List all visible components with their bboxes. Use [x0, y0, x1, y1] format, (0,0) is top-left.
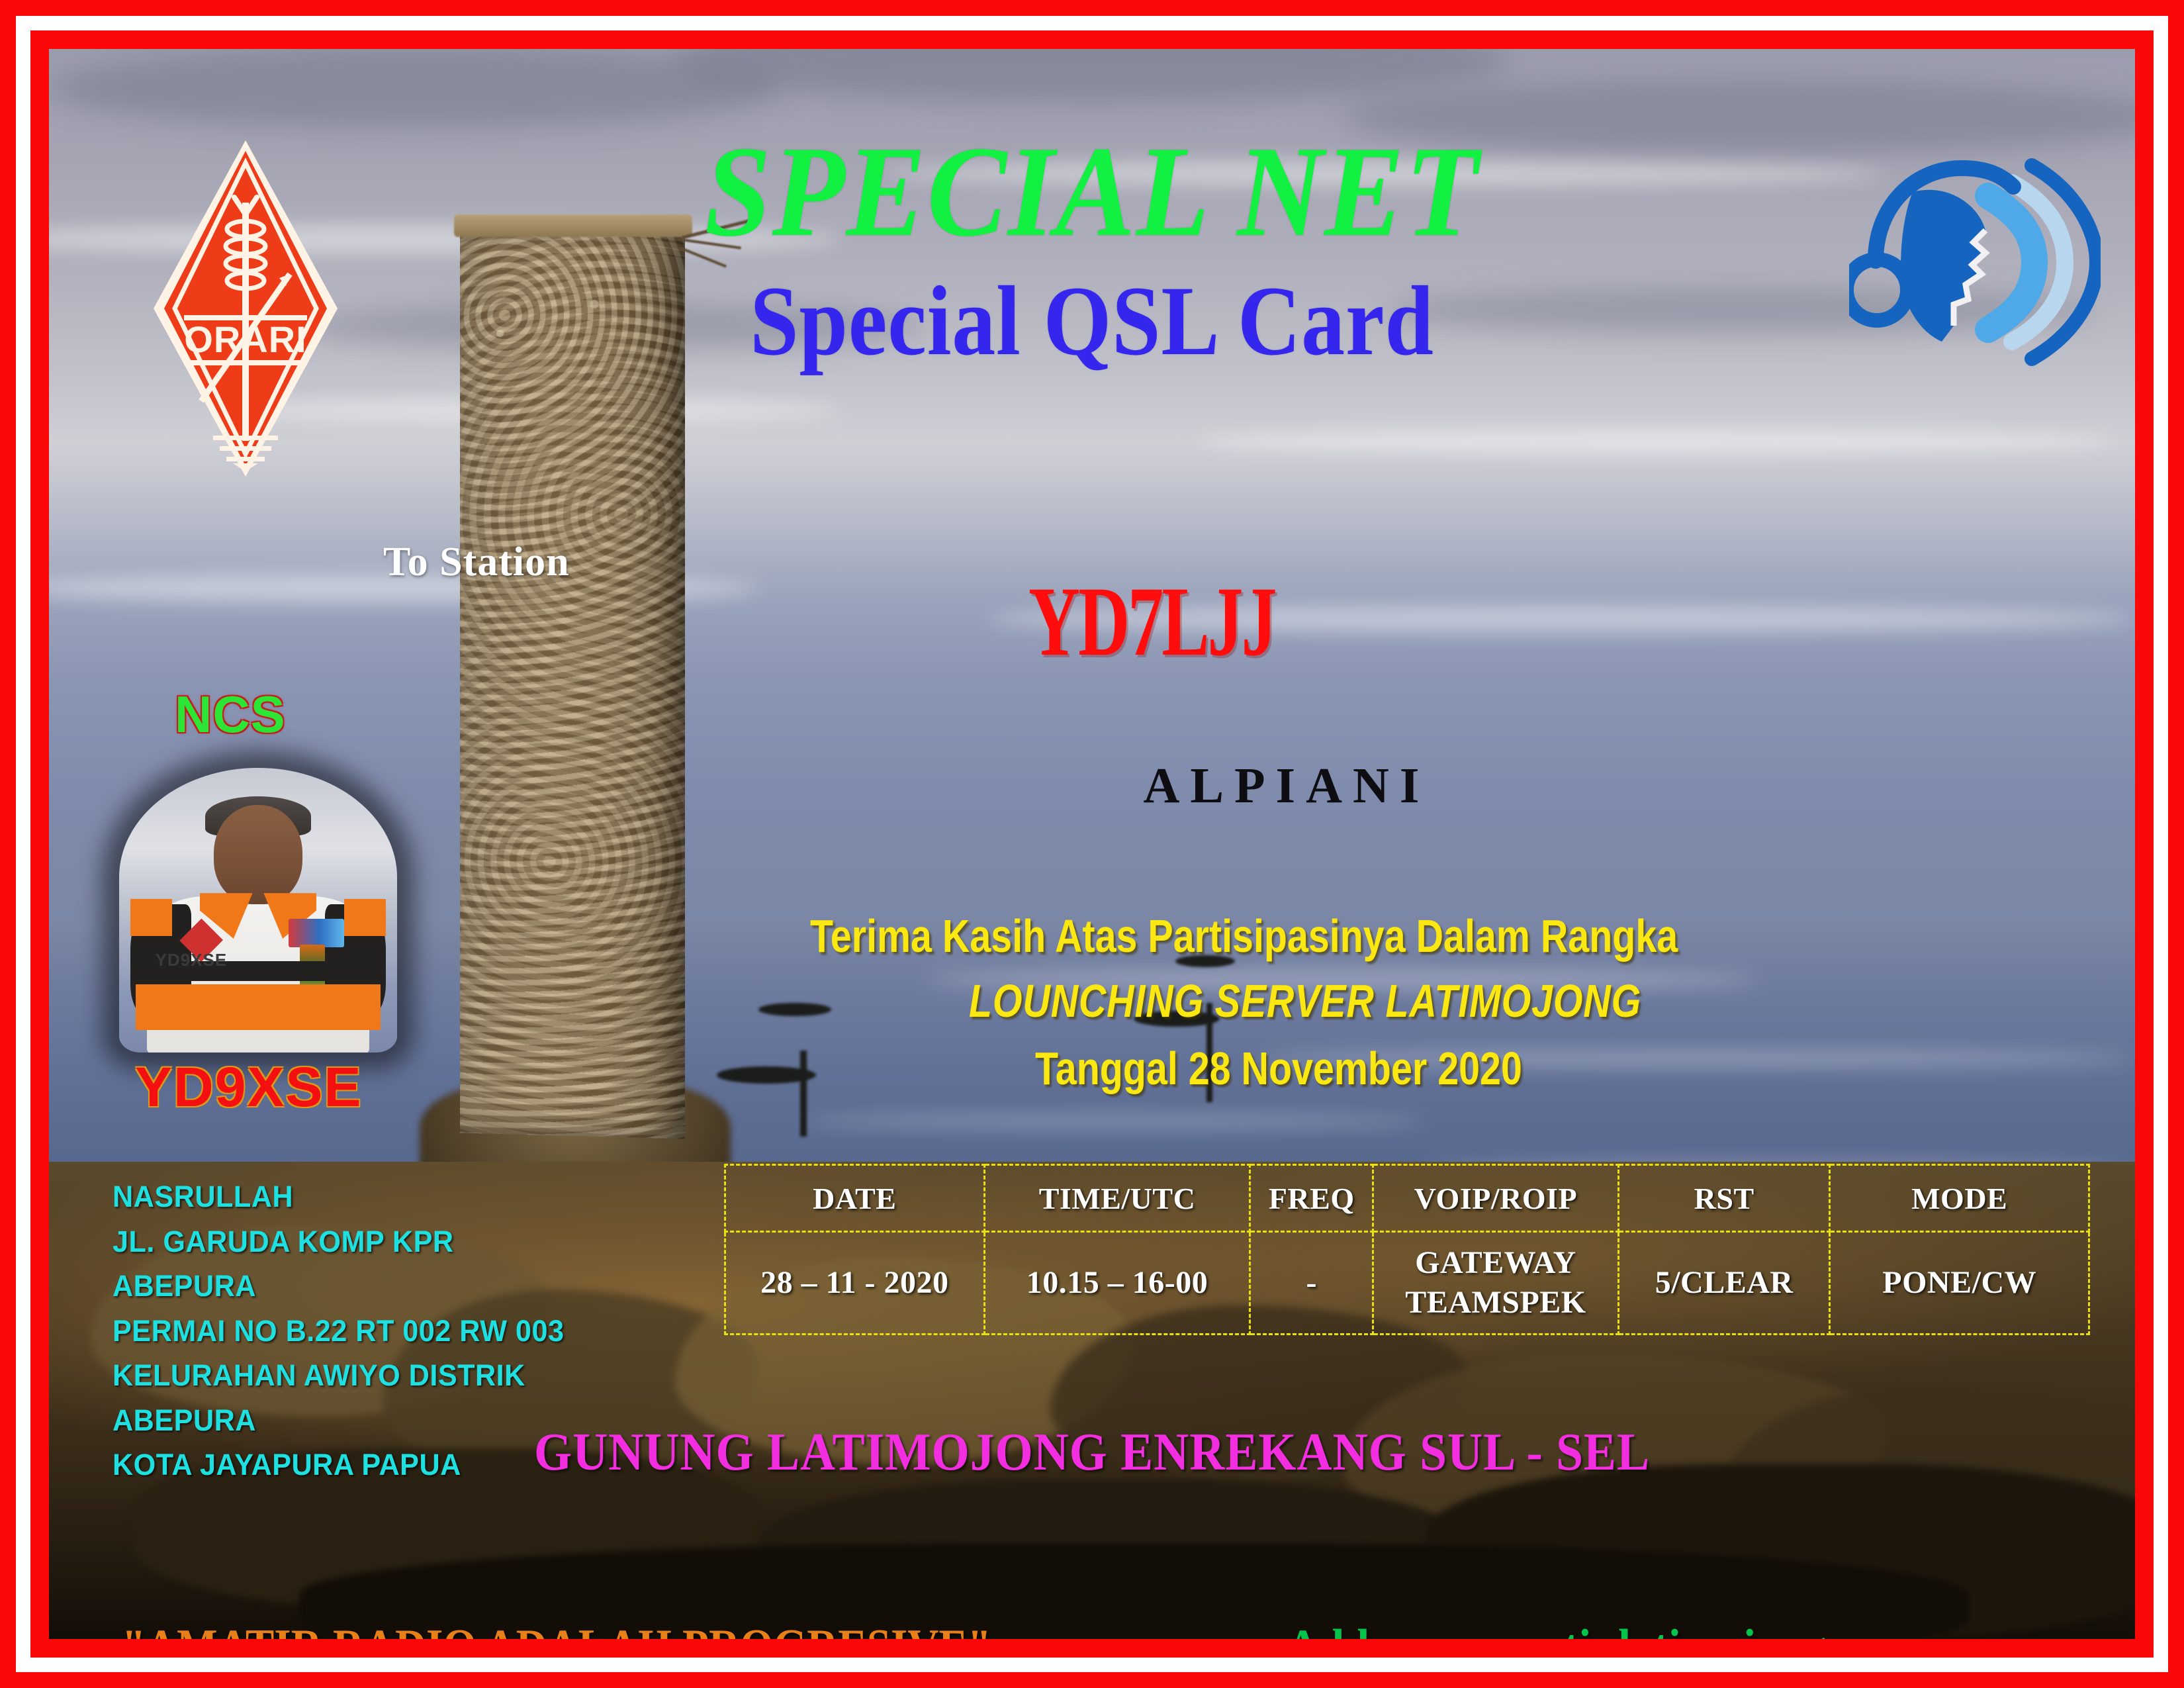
- col-time: TIME/UTC: [984, 1165, 1250, 1232]
- location-label: GUNUNG LATIMOJONG ENREKANG SUL - SEL: [132, 1423, 2052, 1483]
- address-line: ABEPURA: [113, 1264, 564, 1309]
- col-date: DATE: [725, 1165, 985, 1232]
- station-callsign: YD7LJJ: [1028, 572, 1275, 671]
- qsl-card: ORARI: [0, 0, 2184, 1688]
- qso-table: DATE TIME/UTC FREQ VOIP/ROIP RST MODE 28…: [724, 1164, 2090, 1335]
- address-line: NASRULLAH: [113, 1174, 564, 1219]
- page-subtitle: Special QSL Card: [174, 271, 2010, 371]
- operator-name: ALPIANI: [1055, 757, 1518, 815]
- cell-freq: -: [1250, 1232, 1373, 1335]
- col-mode: MODE: [1830, 1165, 2089, 1232]
- col-rst: RST: [1618, 1165, 1829, 1232]
- cell-date: 28 – 11 - 2020: [725, 1232, 985, 1335]
- cell-time: 10.15 – 16-00: [984, 1232, 1250, 1335]
- event-thanks-line: Terima Kasih Atas Partisipasinya Dalam R…: [810, 910, 1678, 962]
- to-station-label: To Station: [383, 539, 570, 586]
- cell-rst: 5/CLEAR: [1618, 1232, 1829, 1335]
- address-line: KELURAHAN AWIYO DISTRIK: [113, 1353, 564, 1398]
- cell-voip-roip: GATEWAY TEAMSPEK: [1373, 1232, 1618, 1335]
- motto-text: "AMATIR RADIO ADALAH PROGRESIVE": [122, 1619, 991, 1639]
- website-address: Address : amatir.latimojong.com: [1287, 1619, 1917, 1639]
- ncs-label: NCS: [175, 684, 286, 745]
- page-title: SPECIAL NET: [132, 127, 2052, 257]
- table-header-row: DATE TIME/UTC FREQ VOIP/ROIP RST MODE: [725, 1165, 2089, 1232]
- table-row: 28 – 11 - 2020 10.15 – 16-00 - GATEWAY T…: [725, 1232, 2089, 1335]
- address-line: JL. GARUDA KOMP KPR: [113, 1219, 564, 1264]
- avatar-shirt-callsign: YD9XSE: [156, 950, 228, 970]
- address-line: PERMAI NO B.22 RT 002 RW 003: [113, 1309, 564, 1354]
- operator-avatar: YD9XSE: [119, 768, 397, 1053]
- event-date-line: Tanggal 28 November 2020: [1035, 1042, 1522, 1095]
- col-freq: FREQ: [1250, 1165, 1373, 1232]
- col-voip-roip: VOIP/ROIP: [1373, 1165, 1618, 1232]
- card-background-photo: ORARI: [49, 49, 2135, 1639]
- event-title-line: LOUNCHING SERVER LATIMOJONG: [969, 974, 1641, 1027]
- ncs-callsign: YD9XSE: [135, 1055, 363, 1119]
- cell-mode: PONE/CW: [1830, 1232, 2089, 1335]
